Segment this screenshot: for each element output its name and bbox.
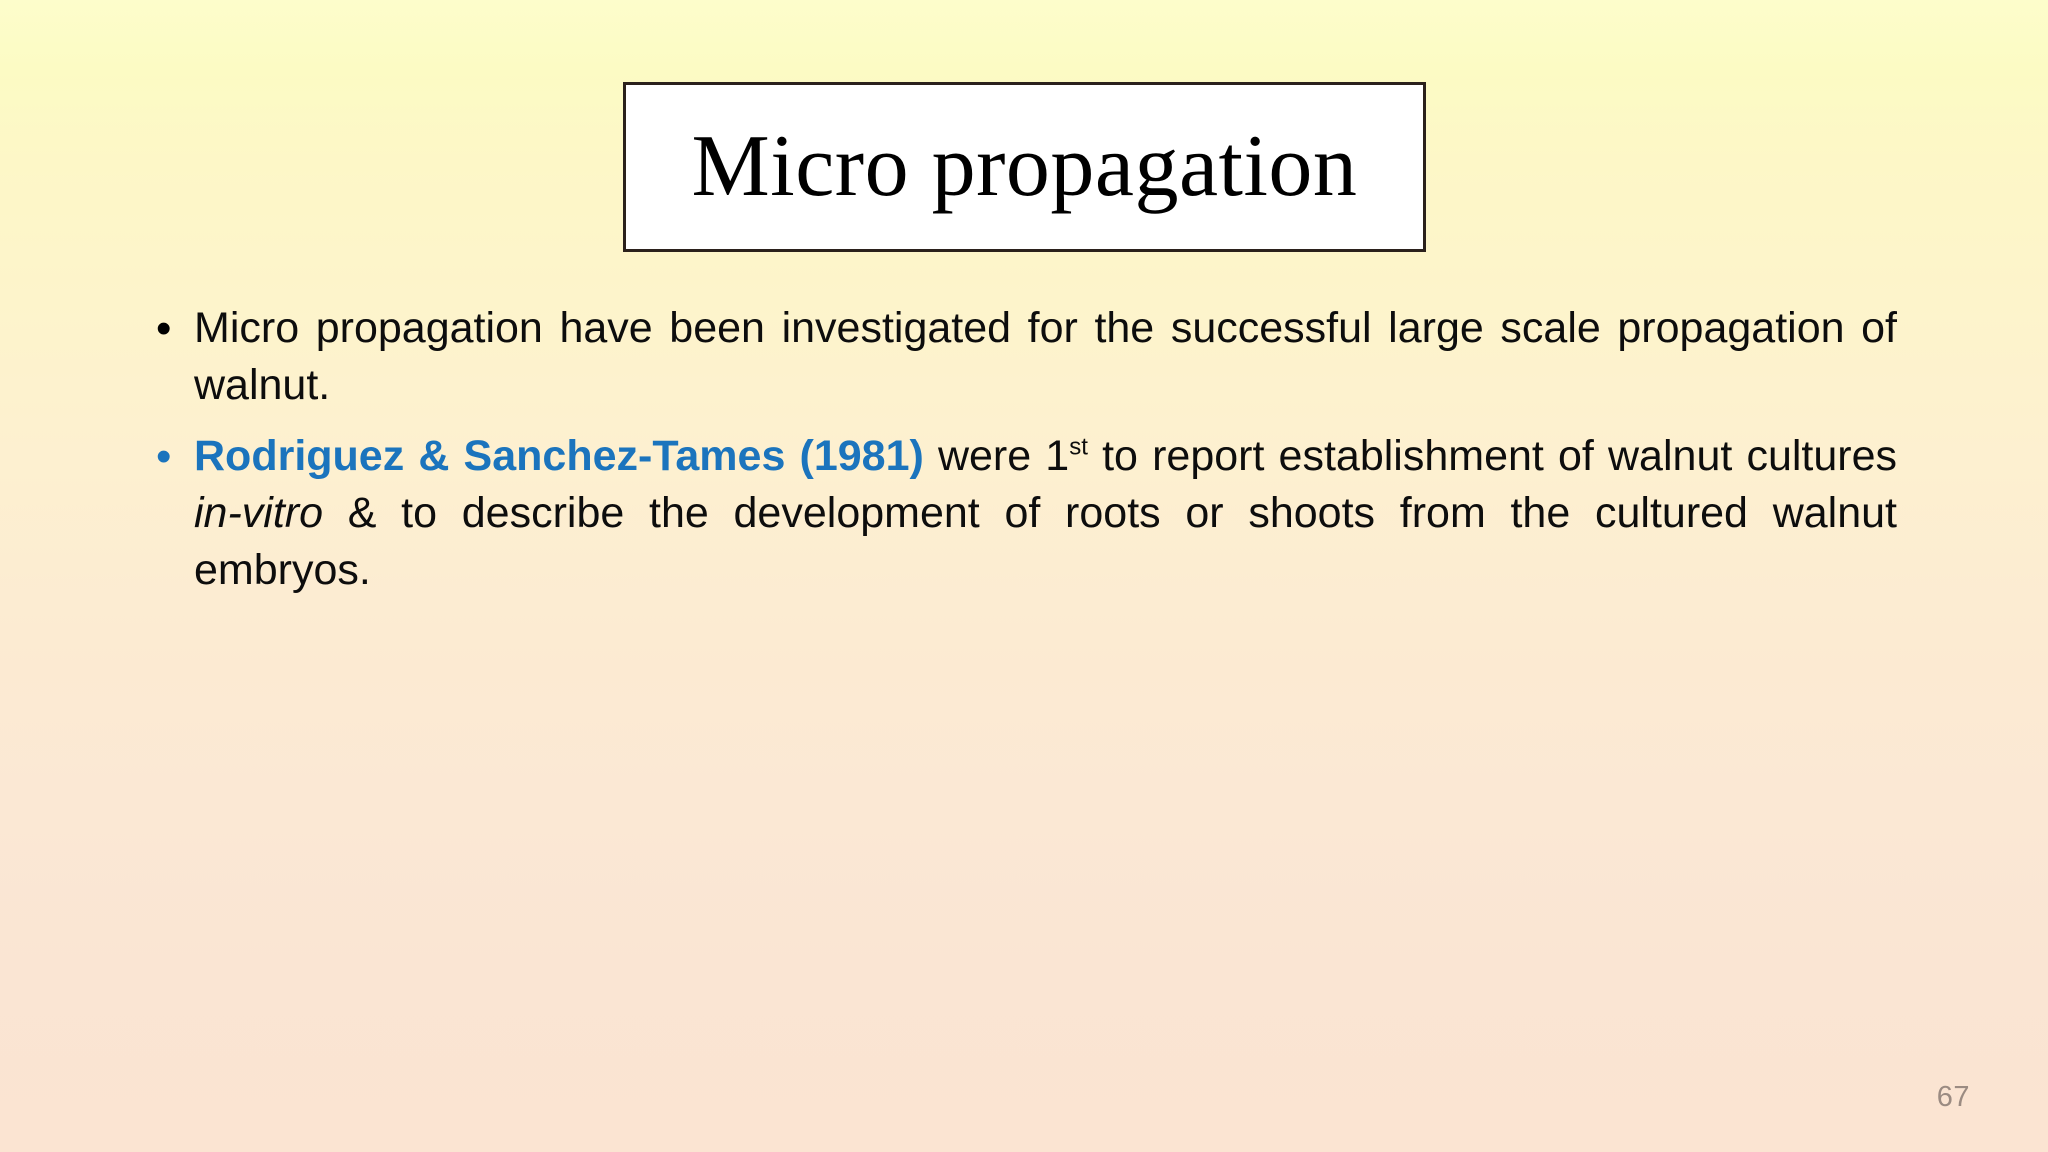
in-vitro-term: in-vitro [194,489,323,537]
page-title: Micro propagation [692,123,1358,211]
bullet-text-1: Micro propagation have been investigated… [194,300,1897,414]
ordinal-suffix: st [1069,434,1088,461]
bullet-1-segment-normal: Micro propagation have been investigated… [194,304,1897,409]
bullet-marker-icon: • [152,428,194,485]
bullet-marker-icon: • [152,300,194,357]
bullet-2-segment-were: were 1 [924,432,1069,480]
bullet-2-segment-tail: & to describe the development of roots o… [194,489,1897,594]
page-number: 67 [1937,1081,1970,1114]
bullet-2-segment-report: to report establishment of walnut cultur… [1088,432,1897,480]
body-content: • Micro propagation have been investigat… [152,300,1897,613]
list-item: • Micro propagation have been investigat… [152,300,1897,414]
list-item: • Rodriguez & Sanchez-Tames (1981) were … [152,428,1897,599]
title-box: Micro propagation [623,82,1426,252]
slide-canvas: Micro propagation • Micro propagation ha… [0,0,2048,1152]
bullet-text-2: Rodriguez & Sanchez-Tames (1981) were 1s… [194,428,1897,599]
citation-reference: Rodriguez & Sanchez-Tames (1981) [194,432,924,480]
